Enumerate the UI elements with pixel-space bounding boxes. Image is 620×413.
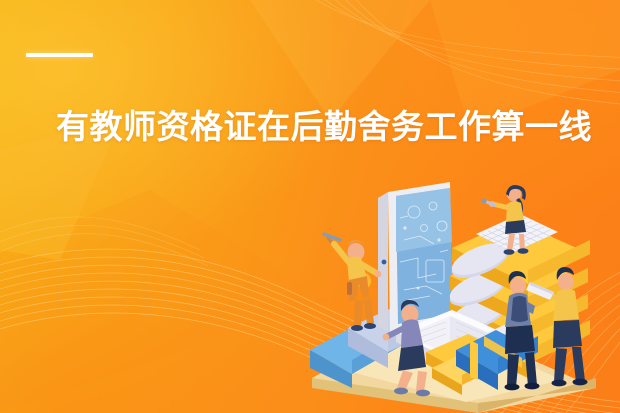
accent-rule <box>26 53 93 57</box>
page-title: 有教师资格证在后勤舍务工作算一线 <box>56 106 616 148</box>
banner-cover: 有教师资格证在后勤舍务工作算一线 <box>0 0 620 413</box>
figure-pickaxe <box>324 234 381 331</box>
illustration-education-scene <box>300 182 620 413</box>
